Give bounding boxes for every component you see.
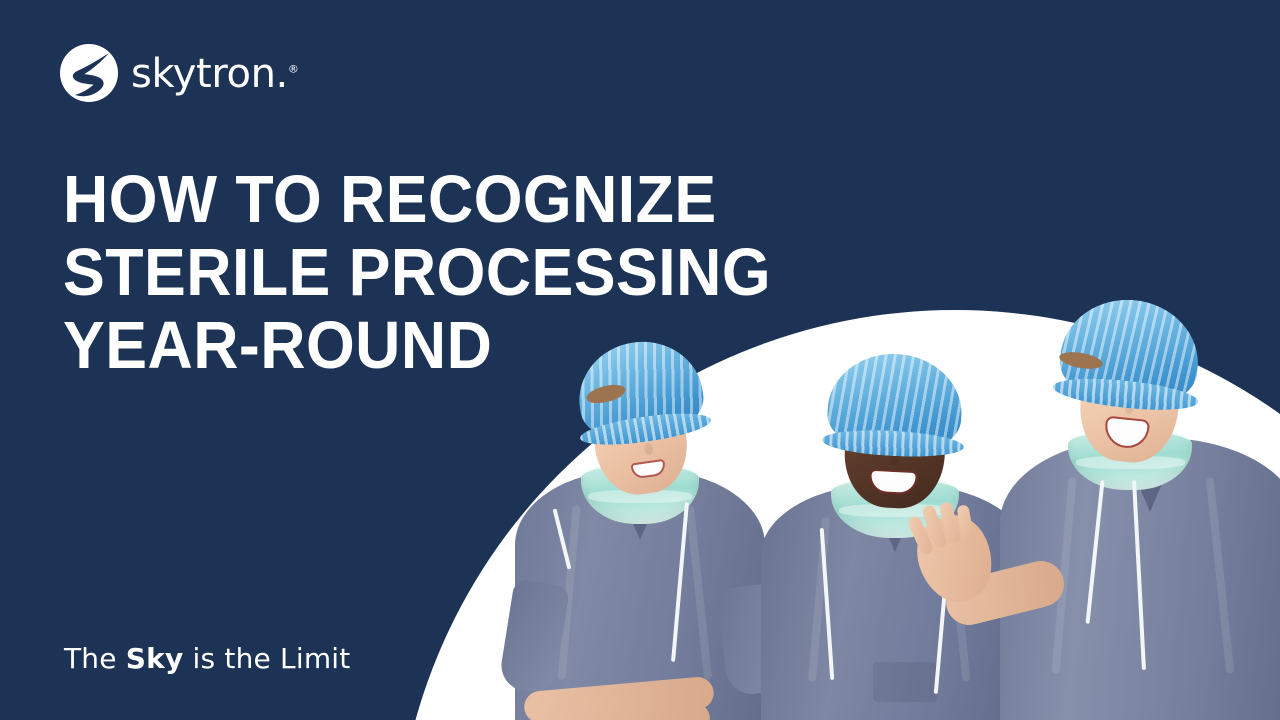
headline-line-1: HOW TO RECOGNIZE [63,163,811,236]
headline-line-3: YEAR-ROUND [63,309,811,382]
tagline-prefix: The [64,642,126,675]
skytron-swoosh-circle-logo-icon [60,44,118,102]
center-chest-pocket [873,662,937,702]
banner-canvas: skytron.® HOW TO RECOGNIZE STERILE PROCE… [0,0,1280,720]
mouth [630,459,666,480]
page-title: HOW TO RECOGNIZE STERILE PROCESSING YEAR… [63,163,863,382]
technician-left [500,360,780,720]
skytron-wordmark: skytron.® [131,54,299,94]
nose [644,442,655,455]
headline-line-2: STERILE PROCESSING [63,236,811,309]
fold [686,505,712,680]
skytron-logo[interactable]: skytron.® [60,42,299,104]
registered-mark: ® [288,63,299,76]
mouth [869,469,918,495]
cap-rim [821,427,964,460]
technician-right [985,320,1280,720]
tagline-suffix: is the Limit [183,642,350,675]
tagline-emphasis: Sky [126,642,184,675]
brand-tagline: The Sky is the Limit [64,641,350,677]
fold [1206,478,1235,675]
mouth [1103,416,1150,450]
